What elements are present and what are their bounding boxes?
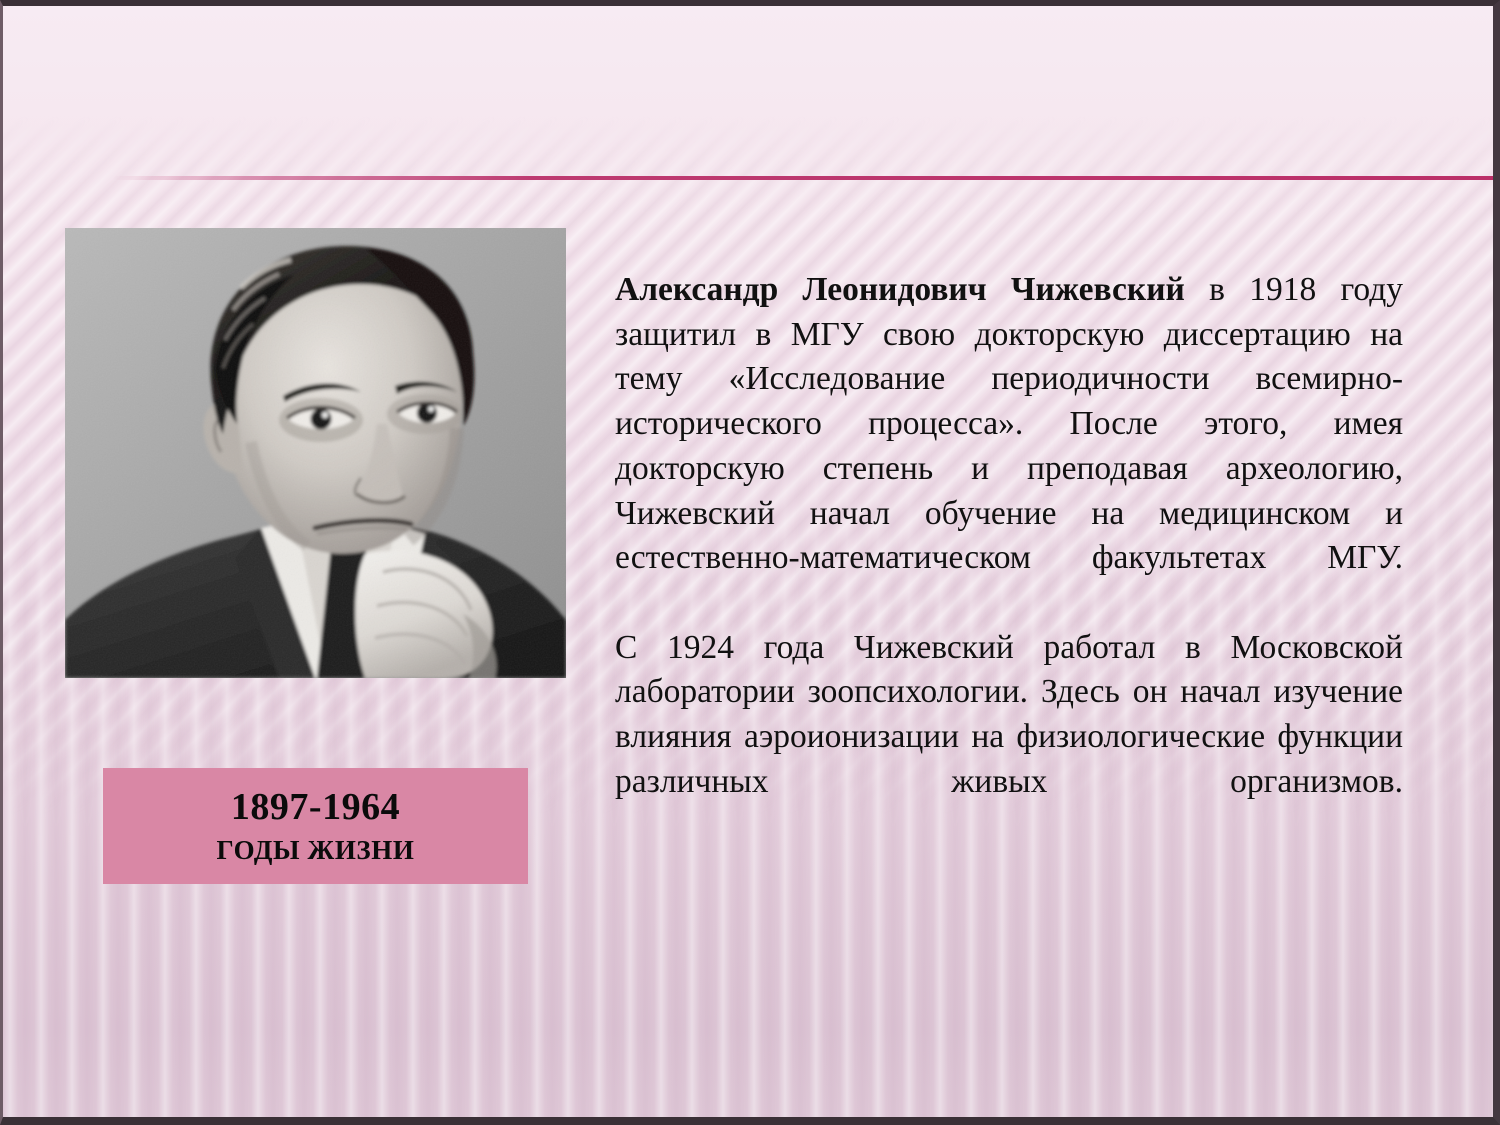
subject-name: Александр Леонидович Чижевский [615, 271, 1185, 308]
life-years-value: 1897-1964 [231, 788, 400, 828]
life-years-plaque: 1897-1964 ГОДЫ ЖИЗНИ [103, 768, 528, 884]
paragraph-1-rest: в 1918 году защитил в МГУ свою докторску… [615, 271, 1403, 576]
paragraph-1: Александр Леонидович Чижевский в 1918 го… [615, 268, 1403, 626]
presentation-slide: 1897-1964 ГОДЫ ЖИЗНИ Александр Леонидови… [0, 0, 1500, 1125]
portrait-photo [65, 228, 566, 678]
life-years-label: ГОДЫ ЖИЗНИ [217, 834, 415, 868]
paragraph-2: С 1924 года Чижевский работал в Московск… [615, 626, 1403, 850]
slide-body-text: Александр Леонидович Чижевский в 1918 го… [615, 268, 1403, 849]
